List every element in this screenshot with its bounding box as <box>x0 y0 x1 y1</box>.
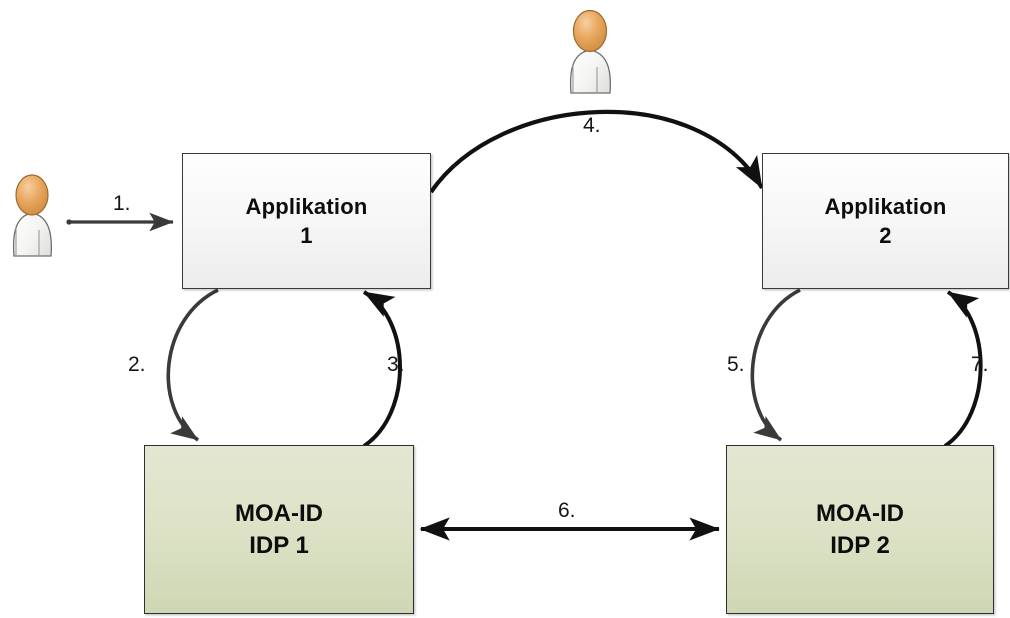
user-actor-top <box>560 3 620 95</box>
moa-id-idp-2-label-line2: IDP 2 <box>830 530 890 562</box>
application-2-box[interactable]: Applikation 2 <box>762 153 1009 289</box>
user-actor-left <box>4 168 60 258</box>
edge-label-1: 1. <box>113 192 131 216</box>
application-2-label-line1: Applikation <box>825 192 947 221</box>
person-icon <box>560 3 620 95</box>
application-1-box[interactable]: Applikation 1 <box>182 153 431 289</box>
moa-id-idp-1-label-line1: MOA-ID <box>235 498 323 530</box>
edge-1-user-to-app1 <box>66 219 173 224</box>
diagram-canvas: Applikation 1 Applikation 2 MOA-ID IDP 1… <box>0 0 1010 618</box>
moa-id-idp-2-box[interactable]: MOA-ID IDP 2 <box>726 445 994 614</box>
edge-2-app1-to-idp1 <box>168 290 218 440</box>
moa-id-idp-1-box[interactable]: MOA-ID IDP 1 <box>144 445 414 614</box>
edge-label-2: 2. <box>128 353 146 377</box>
edge-label-6: 6. <box>558 499 576 523</box>
moa-id-idp-1-label-line2: IDP 1 <box>249 530 309 562</box>
edge-label-7: 7. <box>971 353 989 377</box>
moa-id-idp-2-label-line1: MOA-ID <box>816 498 904 530</box>
edge-5-app2-to-idp2 <box>752 290 800 440</box>
application-1-label-line1: Applikation <box>246 192 368 221</box>
application-1-label-line2: 1 <box>300 221 312 250</box>
edge-label-5: 5. <box>727 353 745 377</box>
person-icon <box>4 168 60 258</box>
edge-label-3: 3. <box>387 353 405 377</box>
application-2-label-line2: 2 <box>879 221 891 250</box>
edge-label-4: 4. <box>583 114 601 138</box>
